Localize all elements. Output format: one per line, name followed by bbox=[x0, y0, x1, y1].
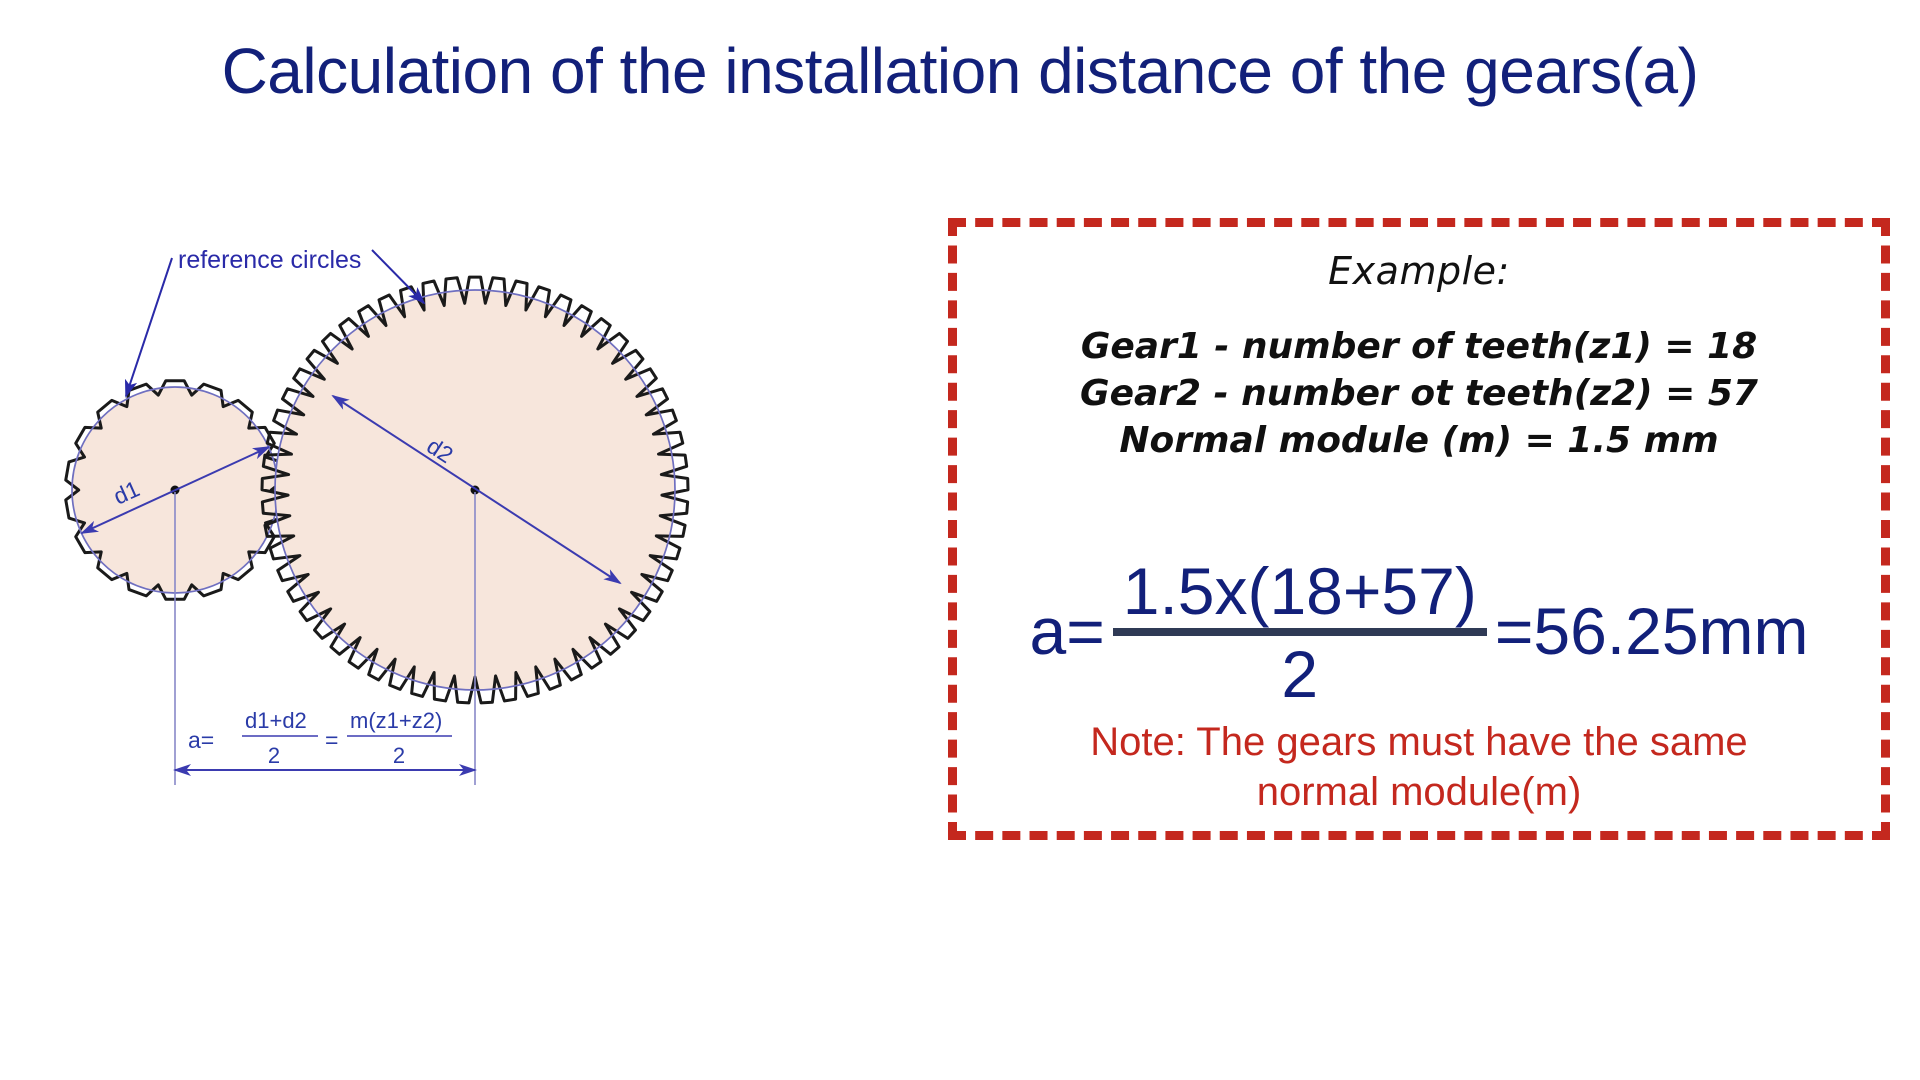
formula-denominator: 2 bbox=[1281, 640, 1318, 709]
formula-lhs: a= bbox=[188, 727, 214, 753]
formula-frac1-numerator: d1+d2 bbox=[245, 708, 307, 733]
example-heading: Example: bbox=[957, 249, 1881, 293]
result-formula: a= 1.5x(18+57) 2 =56.25mm bbox=[957, 557, 1881, 710]
reference-circles-label: reference circles bbox=[178, 246, 361, 274]
note-line-1: Note: The gears must have the same bbox=[957, 717, 1881, 767]
note-line-2: normal module(m) bbox=[957, 767, 1881, 817]
given-line-gear2: Gear2 - number ot teeth(z2) = 57 bbox=[957, 370, 1881, 417]
formula-frac2-numerator: m(z1+z2) bbox=[350, 708, 442, 733]
formula-fraction-bar bbox=[1113, 628, 1487, 636]
given-line-module: Normal module (m) = 1.5 mm bbox=[957, 417, 1881, 464]
reference-circles-leader-left bbox=[126, 258, 172, 396]
formula-frac1-denominator: 2 bbox=[268, 743, 280, 768]
gear-diagram: reference circles d1 d2 a= d1+d2 2 = m(z… bbox=[20, 200, 880, 1010]
formula-frac2-denominator: 2 bbox=[393, 743, 405, 768]
formula-equals: = bbox=[325, 727, 338, 753]
note-block: Note: The gears must have the same norma… bbox=[957, 717, 1881, 817]
example-box: Example: Gear1 - number of teeth(z1) = 1… bbox=[948, 218, 1890, 840]
formula-fraction: 1.5x(18+57) 2 bbox=[1113, 557, 1487, 710]
reference-circles-leader-right bbox=[372, 250, 424, 303]
formula-numerator: 1.5x(18+57) bbox=[1113, 557, 1487, 626]
given-line-gear1: Gear1 - number of teeth(z1) = 18 bbox=[957, 323, 1881, 370]
given-values-list: Gear1 - number of teeth(z1) = 18 Gear2 -… bbox=[957, 323, 1881, 464]
page-title: Calculation of the installation distance… bbox=[0, 34, 1920, 108]
formula-lead: a= bbox=[1030, 598, 1105, 668]
center-distance-formula: a= d1+d2 2 = m(z1+z2) 2 bbox=[188, 708, 452, 768]
formula-result: =56.25mm bbox=[1495, 598, 1809, 668]
